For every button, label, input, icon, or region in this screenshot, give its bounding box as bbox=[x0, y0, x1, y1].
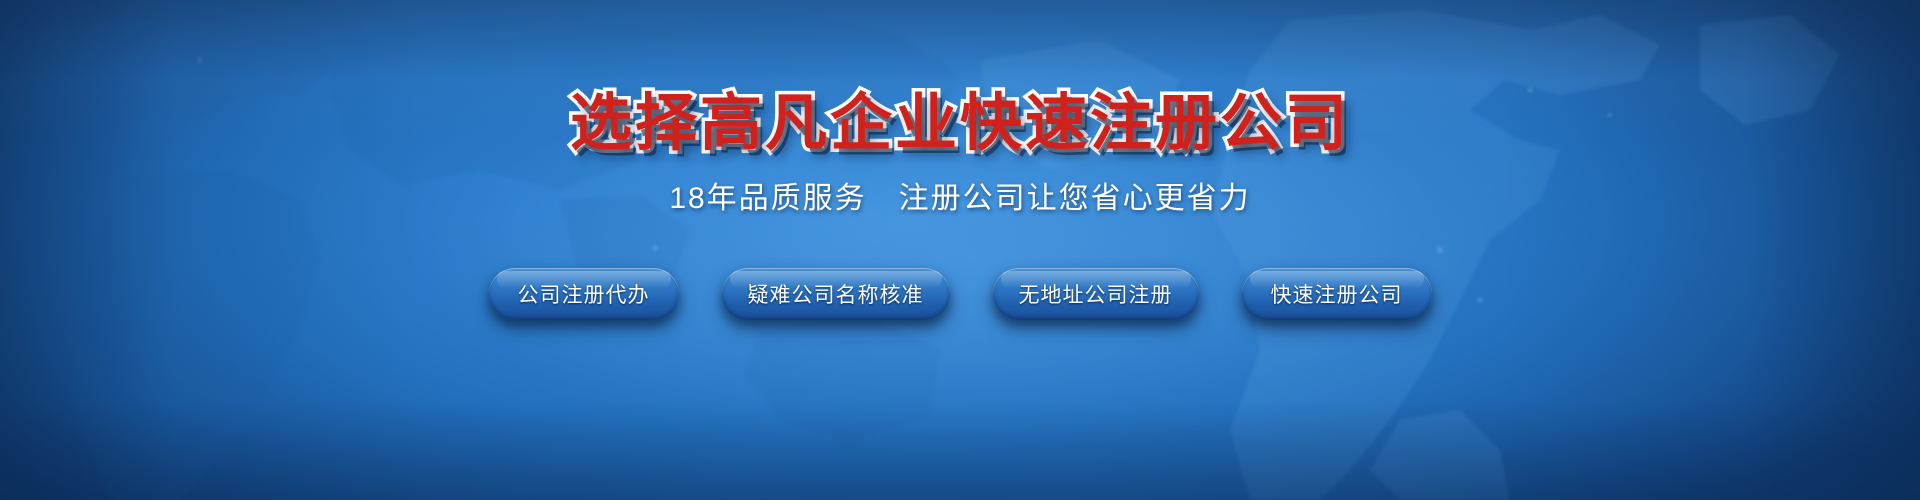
banner-subheadline: 18年品质服务 注册公司让您省心更省力 bbox=[669, 184, 1250, 214]
banner-headline: 选择高凡企业快速注册公司 bbox=[570, 92, 1350, 154]
banner-content: 选择高凡企业快速注册公司 18年品质服务 注册公司让您省心更省力 公司注册代办 … bbox=[0, 0, 1920, 500]
service-button-label: 公司注册代办 bbox=[518, 279, 650, 309]
service-button-company-registration-agency[interactable]: 公司注册代办 bbox=[489, 268, 679, 320]
service-button-label: 无地址公司注册 bbox=[1019, 279, 1173, 309]
hero-banner: 选择高凡企业快速注册公司 18年品质服务 注册公司让您省心更省力 公司注册代办 … bbox=[0, 0, 1920, 500]
service-button-fast-registration[interactable]: 快速注册公司 bbox=[1242, 268, 1432, 320]
service-button-label: 快速注册公司 bbox=[1271, 279, 1403, 309]
service-button-row: 公司注册代办 疑难公司名称核准 无地址公司注册 快速注册公司 bbox=[489, 268, 1432, 320]
service-button-difficult-name-approval[interactable]: 疑难公司名称核准 bbox=[722, 268, 950, 320]
service-button-label: 疑难公司名称核准 bbox=[748, 279, 924, 309]
service-button-no-address-registration[interactable]: 无地址公司注册 bbox=[993, 268, 1199, 320]
